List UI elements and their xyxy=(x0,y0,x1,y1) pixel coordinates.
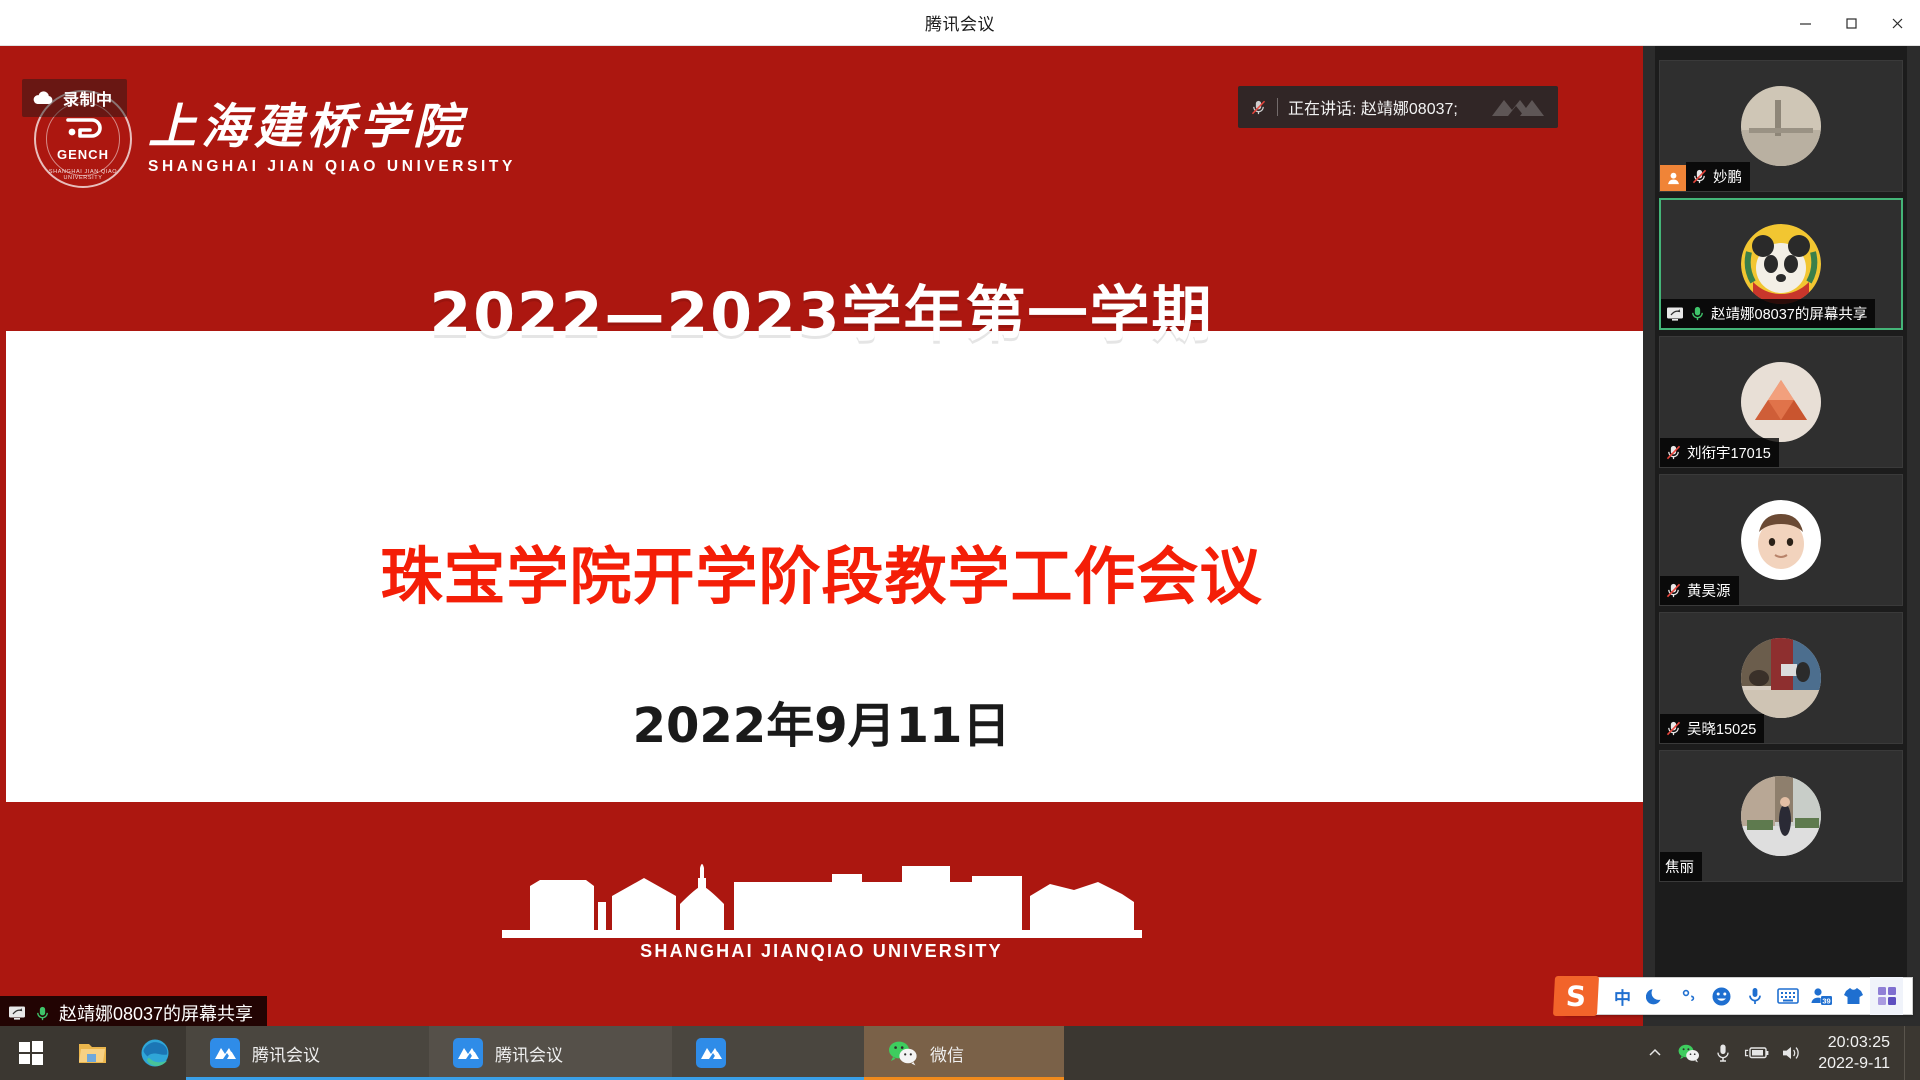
tencent-meeting-icon xyxy=(210,1038,240,1068)
participant-label: 吴晓15025 xyxy=(1660,714,1764,743)
shared-screen-area[interactable]: GENCH SHANGHAI JIAN QIAO UNIVERSITY 上海建桥… xyxy=(0,46,1643,996)
participant-name: 赵靖娜08037的屏幕共享 xyxy=(1711,303,1867,324)
window-title: 腾讯会议 xyxy=(925,10,995,35)
window-controls xyxy=(1782,0,1920,46)
tencent-meeting-icon xyxy=(696,1038,726,1068)
participant-name: 黄昊源 xyxy=(1687,580,1731,601)
chinese-mode-icon[interactable]: 中 xyxy=(1606,977,1639,1015)
seal-arc-text: SHANGHAI JIAN QIAO UNIVERSITY xyxy=(36,169,130,181)
clock-date: 2022-9-11 xyxy=(1818,1053,1890,1074)
mic-muted-icon xyxy=(1250,99,1267,116)
university-name-cn: 上海建桥学院 xyxy=(148,102,516,154)
seal-gench-text: GENCH xyxy=(36,147,130,162)
mic-muted-icon xyxy=(1665,582,1682,599)
avatar xyxy=(1741,224,1821,304)
user-count-icon[interactable]: 39 xyxy=(1804,977,1837,1015)
participant-name: 焦丽 xyxy=(1665,856,1694,877)
mic-on-icon xyxy=(1689,305,1706,322)
tencent-meeting-watermark-icon xyxy=(1486,90,1550,128)
participant-filmstrip[interactable]: 妙鹏 赵靖娜08037的屏幕共享 xyxy=(1655,46,1907,996)
participant-tile[interactable]: 黄昊源 xyxy=(1659,474,1903,606)
seal-monogram-icon xyxy=(61,113,105,147)
show-desktop-button[interactable] xyxy=(1904,1026,1912,1080)
participant-tile[interactable]: 吴晓15025 xyxy=(1659,612,1903,744)
presentation-slide: GENCH SHANGHAI JIAN QIAO UNIVERSITY 上海建桥… xyxy=(0,46,1643,996)
window-title-bar: 腾讯会议 xyxy=(0,0,1920,46)
recording-badge-label: 录制中 xyxy=(63,86,113,110)
moon-icon[interactable] xyxy=(1639,977,1672,1015)
file-explorer-icon[interactable] xyxy=(62,1026,124,1080)
participant-label: 妙鹏 xyxy=(1686,162,1750,191)
clock-time: 20:03:25 xyxy=(1828,1032,1890,1053)
university-name-en: SHANGHAI JIAN QIAO UNIVERSITY xyxy=(148,158,516,176)
system-tray[interactable]: 20:03:25 2022-9-11 xyxy=(1638,1026,1920,1080)
taskbar-item-tencent-meeting-3[interactable] xyxy=(672,1026,864,1080)
participant-label: 刘衔宇17015 xyxy=(1660,438,1779,467)
taskbar-item-label: 腾讯会议 xyxy=(252,1041,320,1066)
taskbar-item-label: 微信 xyxy=(930,1041,964,1066)
wechat-tray-icon[interactable] xyxy=(1672,1026,1706,1080)
close-button[interactable] xyxy=(1874,0,1920,46)
screen-share-status-pill[interactable]: 赵靖娜08037的屏幕共享 xyxy=(0,996,267,1030)
sogou-ime-toolbar[interactable]: S 中 39 xyxy=(1565,977,1913,1015)
university-wordmark: 上海建桥学院 SHANGHAI JIAN QIAO UNIVERSITY xyxy=(148,102,516,177)
participant-name: 吴晓15025 xyxy=(1687,718,1756,739)
screen-share-icon xyxy=(8,1005,26,1021)
taskbar-item-label: 腾讯会议 xyxy=(495,1041,563,1066)
skin-shirt-icon[interactable] xyxy=(1837,977,1870,1015)
wechat-icon xyxy=(888,1040,918,1066)
mic-muted-icon xyxy=(1665,720,1682,737)
chevron-up-icon[interactable] xyxy=(1638,1026,1672,1080)
taskbar-item-tencent-meeting-2[interactable]: 腾讯会议 xyxy=(429,1026,672,1080)
participant-name: 妙鹏 xyxy=(1713,166,1742,187)
punctuation-icon[interactable] xyxy=(1672,977,1705,1015)
windows-start-icon[interactable] xyxy=(0,1026,62,1080)
cloud-recording-icon xyxy=(32,91,54,105)
avatar xyxy=(1741,500,1821,580)
participant-tile[interactable]: 刘衔宇17015 xyxy=(1659,336,1903,468)
microsoft-edge-icon[interactable] xyxy=(124,1026,186,1080)
participant-label: 黄昊源 xyxy=(1660,576,1739,605)
participant-name: 刘衔宇17015 xyxy=(1687,442,1771,463)
meeting-window-body: GENCH SHANGHAI JIAN QIAO UNIVERSITY 上海建桥… xyxy=(0,46,1920,1080)
avatar xyxy=(1741,362,1821,442)
taskbar-item-wechat[interactable]: 微信 xyxy=(864,1026,1064,1080)
volume-icon[interactable] xyxy=(1774,1026,1808,1080)
mic-muted-icon xyxy=(1691,168,1708,185)
emoji-icon[interactable] xyxy=(1705,977,1738,1015)
toolbox-grid-icon[interactable] xyxy=(1870,977,1903,1015)
avatar xyxy=(1741,86,1821,166)
microphone-tray-icon[interactable] xyxy=(1706,1026,1740,1080)
active-speaker-text: 正在讲话: 赵靖娜08037; xyxy=(1288,95,1458,119)
participant-tile[interactable]: 妙鹏 xyxy=(1659,60,1903,192)
participant-tile-active[interactable]: 赵靖娜08037的屏幕共享 xyxy=(1659,198,1903,330)
minimize-button[interactable] xyxy=(1782,0,1828,46)
campus-skyline-icon xyxy=(502,856,1142,938)
participant-tile[interactable]: 焦丽 xyxy=(1659,750,1903,882)
maximize-button[interactable] xyxy=(1828,0,1874,46)
taskbar-clock[interactable]: 20:03:25 2022-9-11 xyxy=(1808,1032,1904,1074)
taskbar-item-tencent-meeting-1[interactable]: 腾讯会议 xyxy=(186,1026,429,1080)
avatar xyxy=(1741,776,1821,856)
screen-share-status-bar: 赵靖娜08037的屏幕共享 xyxy=(0,996,1643,1030)
tencent-meeting-icon xyxy=(453,1038,483,1068)
slide-heading: 2022—2023学年第一学期 xyxy=(0,266,1643,353)
banner-divider xyxy=(1277,98,1278,116)
battery-charging-icon[interactable] xyxy=(1740,1026,1774,1080)
sogou-logo-icon[interactable]: S xyxy=(1553,976,1599,1016)
participant-label: 焦丽 xyxy=(1660,852,1702,881)
screen-share-status-text: 赵靖娜08037的屏幕共享 xyxy=(59,1000,253,1026)
soft-keyboard-icon[interactable] xyxy=(1771,977,1804,1015)
recording-badge: 录制中 xyxy=(22,79,127,117)
slide-main-title: 珠宝学院开学阶段教学工作会议 xyxy=(0,526,1643,616)
mic-muted-icon xyxy=(1665,444,1682,461)
screen-share-icon xyxy=(1666,306,1684,322)
avatar xyxy=(1741,638,1821,718)
svg-text:39: 39 xyxy=(1822,996,1830,1005)
mic-on-icon xyxy=(34,1005,51,1022)
voice-input-icon[interactable] xyxy=(1738,977,1771,1015)
windows-taskbar[interactable]: 腾讯会议 腾讯会议 微信 xyxy=(0,1026,1920,1080)
active-speaker-banner: 正在讲话: 赵靖娜08037; xyxy=(1238,86,1558,128)
slide-date: 2022年9月11日 xyxy=(0,686,1643,756)
participant-label: 赵靖娜08037的屏幕共享 xyxy=(1661,299,1875,328)
host-badge-icon xyxy=(1660,165,1686,191)
skyline-caption: SHANGHAI JIANQIAO UNIVERSITY xyxy=(0,941,1643,962)
